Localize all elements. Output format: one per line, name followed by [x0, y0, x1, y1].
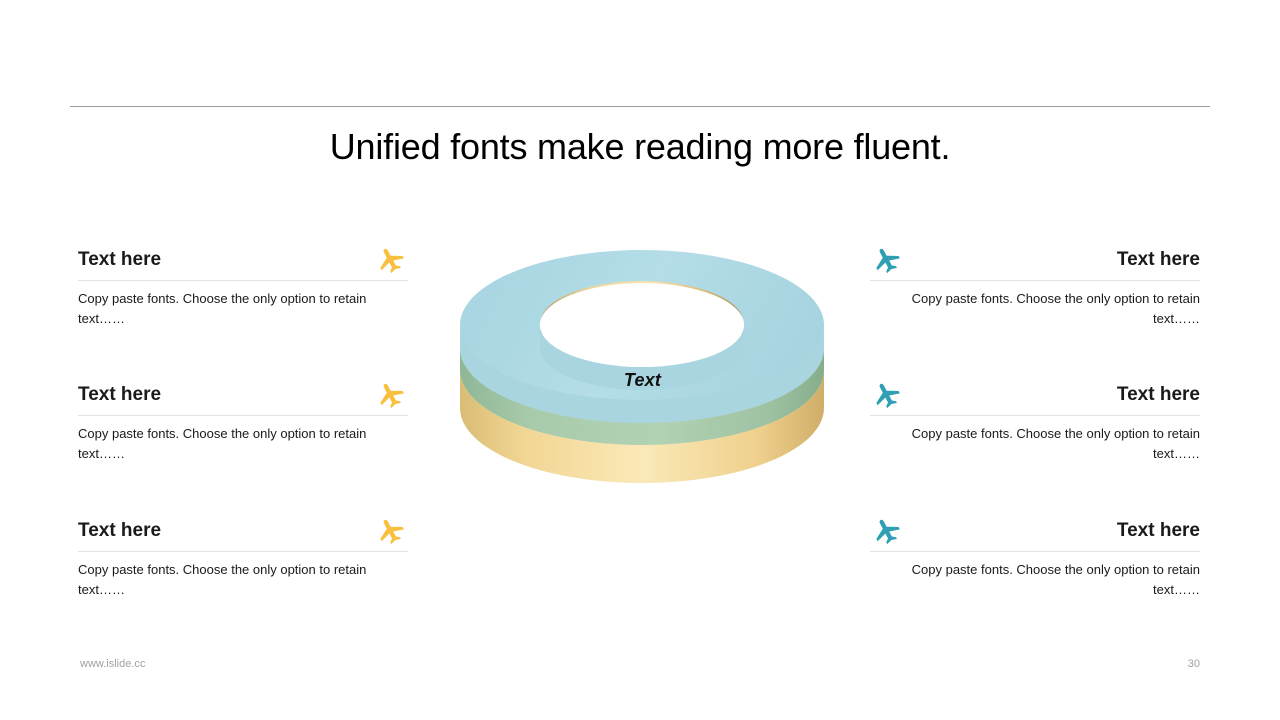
list-item-header: Text here: [870, 516, 1200, 546]
donut-3d-graphic[interactable]: Text: [455, 248, 830, 538]
airplane-icon: [870, 516, 904, 546]
list-item-title: Text here: [78, 247, 374, 273]
list-item[interactable]: Text here Copy paste fonts. Choose the o…: [78, 245, 408, 329]
list-item-header: Text here: [870, 245, 1200, 275]
list-item-divider: [870, 415, 1200, 416]
list-item-body: Copy paste fonts. Choose the only option…: [910, 424, 1200, 464]
list-item-divider: [870, 551, 1200, 552]
footer-page-number: 30: [1188, 658, 1200, 670]
list-item-body: Copy paste fonts. Choose the only option…: [78, 424, 368, 464]
list-item-header: Text here: [870, 380, 1200, 410]
list-item-divider: [78, 280, 408, 281]
airplane-icon: [374, 245, 408, 275]
airplane-icon: [870, 380, 904, 410]
list-item[interactable]: Text here Copy paste fonts. Choose the o…: [870, 380, 1200, 464]
list-item-divider: [870, 280, 1200, 281]
list-item-title: Text here: [78, 518, 374, 544]
list-item-header: Text here: [78, 516, 408, 546]
header-divider-rule: [70, 106, 1210, 107]
list-item[interactable]: Text here Copy paste fonts. Choose the o…: [78, 380, 408, 464]
airplane-icon: [374, 380, 408, 410]
page-title: Unified fonts make reading more fluent.: [0, 125, 1280, 169]
list-item[interactable]: Text here Copy paste fonts. Choose the o…: [870, 245, 1200, 329]
airplane-icon: [870, 245, 904, 275]
donut-hole-front: [540, 283, 744, 367]
list-item-body: Copy paste fonts. Choose the only option…: [78, 289, 368, 329]
list-item-title: Text here: [904, 382, 1200, 408]
list-item-divider: [78, 551, 408, 552]
list-item-title: Text here: [904, 247, 1200, 273]
list-item-header: Text here: [78, 245, 408, 275]
list-item-divider: [78, 415, 408, 416]
list-item-body: Copy paste fonts. Choose the only option…: [78, 560, 368, 600]
list-item[interactable]: Text here Copy paste fonts. Choose the o…: [870, 516, 1200, 600]
donut-center-label: Text: [455, 370, 830, 391]
list-item-body: Copy paste fonts. Choose the only option…: [910, 560, 1200, 600]
list-item-title: Text here: [78, 382, 374, 408]
airplane-icon: [374, 516, 408, 546]
footer-website[interactable]: www.islide.cc: [80, 658, 145, 670]
list-item-title: Text here: [904, 518, 1200, 544]
list-item-body: Copy paste fonts. Choose the only option…: [910, 289, 1200, 329]
list-item[interactable]: Text here Copy paste fonts. Choose the o…: [78, 516, 408, 600]
list-item-header: Text here: [78, 380, 408, 410]
